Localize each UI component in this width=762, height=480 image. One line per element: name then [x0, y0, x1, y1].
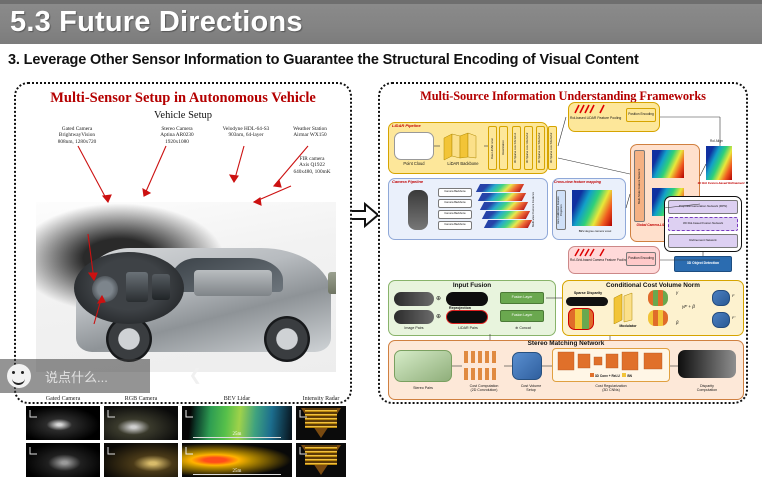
cost-volume-cube — [512, 352, 542, 380]
stage-label-1: Cost Computation(2D Convolution) — [456, 384, 512, 392]
stereo-camera-right — [152, 274, 170, 300]
strip-rgb-camera: RGB Camera — [104, 406, 178, 480]
vehicle-setup-caption: Vehicle Setup — [16, 110, 350, 121]
axis-icon — [185, 409, 194, 418]
roi-align-label: RoI Align — [710, 140, 723, 144]
refinement-caption: 3D RoI Fusion-based Refinement — [696, 182, 746, 186]
cost-volume-grid-1 — [648, 290, 668, 306]
multiview-feature-label: Multi-view Camera Features — [532, 184, 535, 236]
axis-icon — [107, 446, 116, 455]
point-cloud-label: Point Cloud — [394, 162, 434, 167]
caption-intensity-radar: Intensity Radar — [296, 396, 346, 402]
stage-label-4: DisparityComputation — [678, 384, 736, 392]
lidar-stripes-icon — [572, 104, 614, 114]
ccvn-output-2-label: F' — [732, 316, 735, 321]
axis-icon — [299, 409, 308, 418]
plus-icon-1: ⊕ — [436, 296, 441, 303]
ccvn-output-cube-1 — [712, 290, 730, 306]
block-sparse-conv-3: 3D Sparse conv 64x2x2x2 — [536, 126, 545, 170]
camera-stripes-icon — [572, 248, 614, 257]
auto-calibrated-projection: Auto-Calibrated Feature Projection — [556, 190, 566, 230]
gated-camera-image-bottom — [26, 443, 100, 477]
scalebar-top: 25m — [193, 437, 281, 438]
block-sparse-conv-4: 3D Sparse conv 64x2x2x2 — [548, 126, 557, 170]
fusion-layer-2: Fusion Layer — [500, 310, 544, 322]
roi-align-feature — [706, 146, 732, 180]
concat-legend: ⊕ Concat — [498, 326, 548, 330]
legend-conv-relu: 3D Conv + ReLU — [595, 374, 620, 378]
vehicle-photo — [36, 202, 336, 372]
camera-vehicle-icon — [408, 190, 428, 230]
image-pair-thumb-2 — [394, 310, 434, 324]
scalebar-bottom: 25m — [193, 474, 281, 475]
caption-gated-camera: Gated Camera — [26, 396, 100, 402]
camera-backbone-4: Camera Backbone — [438, 221, 472, 230]
lidar-backbone-icon — [440, 130, 486, 162]
roi-lidar-pooling-label: RoI-based LiDAR Feature Pooling — [570, 116, 620, 120]
lidar-backbone-label: LiDAR Backbone — [442, 162, 484, 167]
ccvn-output-1-label: F — [732, 294, 734, 299]
cost-volume-grid-2 — [648, 310, 668, 326]
position-encoding-lidar: Position Encoding — [626, 108, 656, 122]
frameworks-panel: Multi-Source Information Understanding F… — [378, 82, 748, 404]
video-comment-bar[interactable]: 说点什么... ❮ — [0, 359, 150, 393]
roof-sensor-pod — [194, 270, 272, 296]
label-fir-camera: FIR cameraAxis Q1922640x480, 100mK — [274, 156, 350, 175]
modulator-label: Modulator — [608, 324, 648, 328]
ccvn-formula: γF + β — [682, 304, 695, 309]
multi-sensor-setup-panel: Multi-Sensor Setup in Autonomous Vehicle… — [14, 82, 352, 404]
ccvn-title: Conditional Cost Volume Norm — [562, 282, 744, 289]
axis-icon — [29, 409, 38, 418]
intensity-radar-image-top — [296, 406, 346, 440]
label-gated-camera: Gated CameraBrightwayVision808nm, 1280x7… — [32, 126, 122, 145]
lidar-pairs-label: LiDAR Pairs — [444, 326, 492, 330]
position-encoding-camera: Position Encoding — [626, 252, 656, 266]
comment-input-placeholder[interactable]: 说点什么... — [45, 367, 108, 386]
multiscale-feature-network: Multi-Scale Feature Network — [634, 150, 645, 222]
stage-label-3: Cost Regularization(3D CNNs) — [558, 384, 664, 392]
image-pair-thumb-1 — [394, 292, 434, 306]
block-voxelization: Voxelization — [499, 126, 508, 170]
intensity-radar-image-bottom — [296, 443, 346, 477]
page-title: 5.3 Future Directions — [10, 6, 303, 39]
strip-bev-lidar: BEV Lidar 25m 25m — [182, 406, 292, 480]
axis-icon — [299, 446, 308, 455]
camera-backbone-2: Camera Backbone — [438, 199, 472, 208]
rgb-camera-image-bottom — [104, 443, 178, 477]
left-panel-title: Multi-Sensor Setup in Autonomous Vehicle — [16, 90, 350, 107]
camera-closeup-photo — [74, 252, 184, 324]
head-refinement: Refinement Network — [668, 234, 738, 248]
lidar-pair-thumb-1 — [446, 292, 488, 306]
sparse-disparity-thumb — [566, 297, 608, 306]
smiley-face-icon[interactable] — [7, 364, 31, 388]
stage-label-2: Cost VolumeSetup — [512, 384, 550, 392]
lidar-pipeline-label: LiDAR Pipeline — [392, 124, 421, 129]
strip-intensity-radar: Intensity Radar — [296, 406, 346, 480]
input-fusion-title: Input Fusion — [388, 282, 556, 289]
rear-wheel — [264, 316, 310, 362]
caption-bev-lidar: BEV Lidar — [182, 396, 292, 402]
gated-camera-lens — [92, 276, 118, 302]
axis-icon — [29, 446, 38, 455]
right-panel-title: Multi-Source Information Understanding F… — [380, 89, 746, 104]
stereo-pair-image — [394, 350, 452, 382]
rgb-camera-image-top — [104, 406, 178, 440]
camera-pipeline-label: Camera Pipeline — [392, 180, 423, 185]
multiview-feature-stack — [478, 184, 530, 236]
chevron-left-icon[interactable]: ❮ — [189, 365, 202, 385]
concat-label: Concat — [519, 326, 530, 330]
output-3d-detection: 3D Object Detection — [674, 256, 732, 272]
axis-icon — [185, 446, 194, 455]
point-cloud-image — [394, 132, 434, 160]
stereo-camera-left — [126, 272, 148, 302]
head-roi-fusion: 3D RoI-based Fusion Network — [668, 217, 738, 231]
stereo-network-title: Stereo Matching Network — [388, 340, 744, 347]
ccvn-output-cube-2 — [712, 312, 730, 328]
head-rpn: Proposal Generation Network (RPN) — [668, 200, 738, 214]
reprojection-label: Reprojection — [430, 306, 490, 310]
slide-header: 5.3 Future Directions — [0, 4, 762, 44]
fused-bev-feature-top — [652, 150, 684, 178]
caption-rgb-camera: RGB Camera — [104, 396, 178, 402]
bev-camera-voxel — [572, 190, 612, 226]
velodyne-unit — [328, 272, 336, 294]
bev-lidar-image-top: 25m — [182, 406, 292, 440]
fusion-layer-1: Fusion Layer — [500, 292, 544, 304]
block-sparse-conv-1: 3D Sparse conv 16x1x1x1 — [512, 126, 521, 170]
slide-subtitle: 3. Leverage Other Sensor Information to … — [8, 52, 754, 68]
gated-camera-image-top — [26, 406, 100, 440]
bev-lidar-image-bottom: 25m — [182, 443, 292, 477]
disparity-output-image — [678, 350, 736, 378]
stage-label-0: Stereo Pairs — [394, 386, 452, 390]
cross-view-label: Cross-view feature mapping — [554, 180, 601, 184]
camera-backbone-3: Camera Backbone — [438, 210, 472, 219]
block-sparse-conv-2: 3D Sparse conv 32x2x2x2 — [524, 126, 533, 170]
lidar-pair-thumb-2 — [446, 310, 488, 324]
beta-symbol: β — [676, 320, 679, 325]
label-weather-station: Weather StationAirmar WX150 — [272, 126, 348, 139]
plus-icon-2: ⊕ — [436, 314, 441, 321]
block-raw-lidar: Raw LiDAR scan — [488, 126, 497, 170]
strip-gated-camera: Gated Camera — [26, 406, 100, 480]
image-pairs-label: Image Pairs — [390, 326, 438, 330]
cost-regularization-icon — [556, 350, 666, 372]
modulator-icon — [610, 290, 644, 324]
gamma-symbol: γ — [676, 290, 678, 295]
camera-backbone-1: Camera Backbone — [438, 188, 472, 197]
sparse-disparity-label: Sparse Disparity — [564, 291, 612, 295]
roi-camera-pooling-label: RoI-Grid-based Camera Feature Pooling — [570, 259, 620, 263]
cost-computation-icon — [462, 350, 504, 382]
disparity-grid — [568, 308, 594, 330]
bev-voxel-caption: BEV-degree camera voxel — [570, 230, 620, 233]
legend-bn: BN — [627, 374, 632, 378]
axis-icon — [107, 409, 116, 418]
stereo-legend: 3D Conv + ReLU BN — [556, 373, 666, 379]
